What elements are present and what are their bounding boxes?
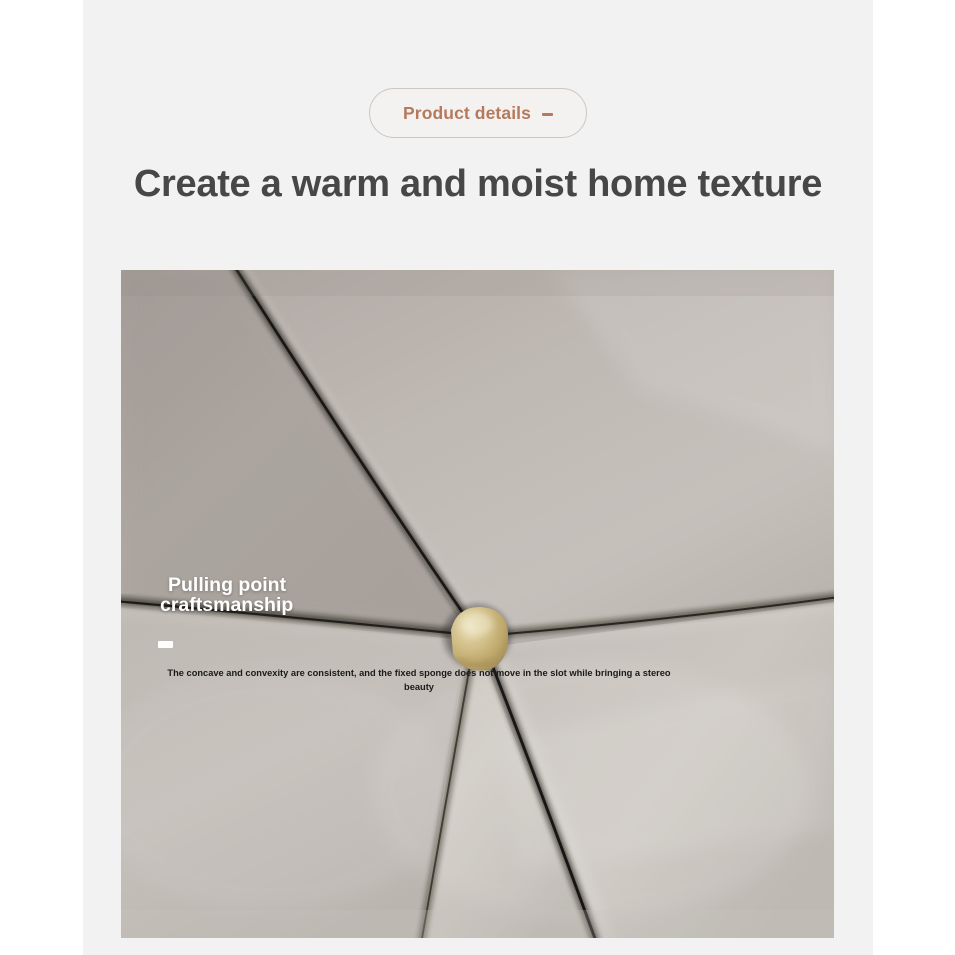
dash-icon [542, 113, 553, 116]
overlay-divider [158, 641, 173, 648]
upholstery-illustration [121, 270, 834, 938]
product-photo: Pulling point craftsmanship The concave … [121, 270, 834, 938]
product-details-label: Product details [403, 103, 531, 124]
product-details-badge[interactable]: Product details [369, 88, 587, 138]
page-title: Create a warm and moist home texture [83, 163, 873, 206]
badge-container: Product details [83, 88, 873, 138]
product-detail-card: Product details Create a warm and moist … [83, 0, 873, 955]
